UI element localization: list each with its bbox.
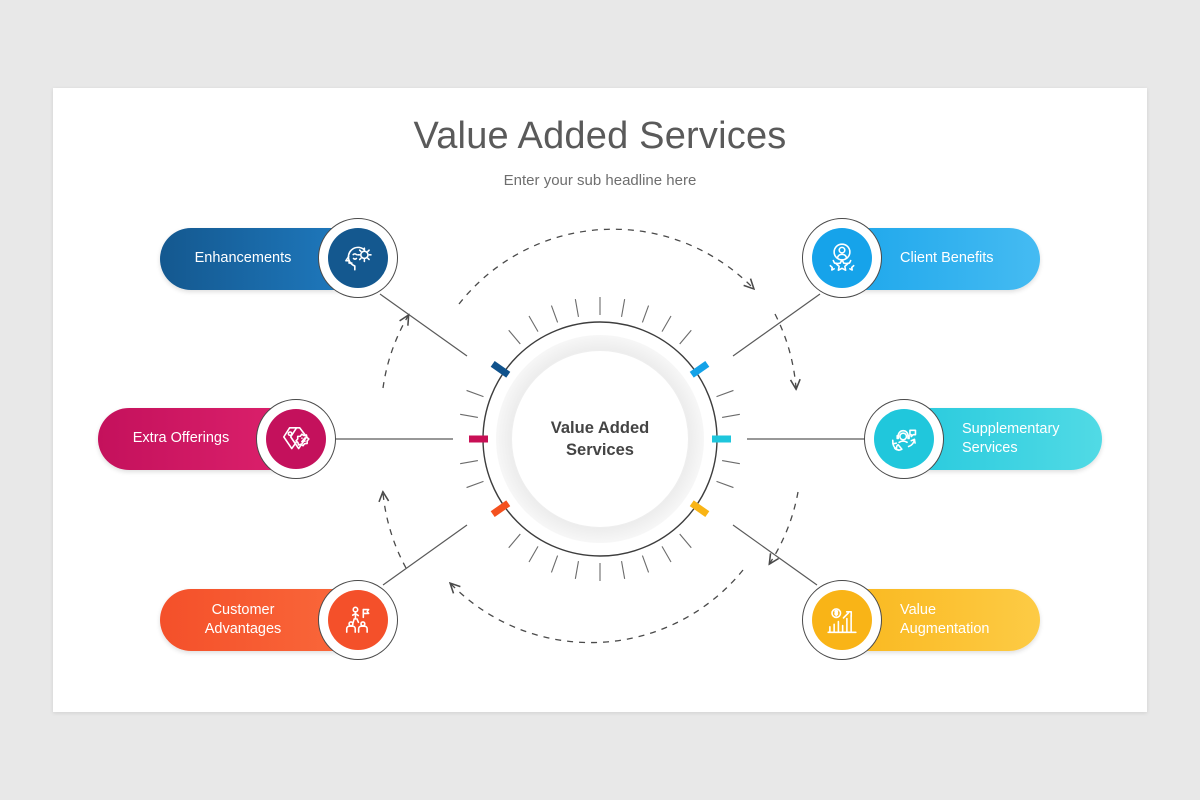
hub-tick <box>717 390 734 396</box>
hub-tick <box>722 414 740 417</box>
hub-tick <box>680 330 692 344</box>
connector-customer-advantages <box>383 525 467 585</box>
arc-lower-right <box>770 492 798 563</box>
hub-tick <box>662 316 671 332</box>
hub-tick <box>680 534 692 548</box>
node-icon-badge-enhancements[interactable] <box>318 218 398 298</box>
node-icon-badge-value-augmentation[interactable] <box>802 580 882 660</box>
connector-value-augmentation <box>733 525 817 585</box>
hub-tick <box>575 561 578 579</box>
connector-enhancements <box>380 294 467 356</box>
hub-tick <box>622 561 625 579</box>
arc-upper-left <box>383 316 408 388</box>
slide-card: Value Added Services Enter your sub head… <box>53 88 1147 712</box>
hub-tick <box>662 546 671 562</box>
growth-chart-dollar-icon <box>812 590 872 650</box>
hub-tick <box>551 306 557 323</box>
hub-tick <box>642 556 648 573</box>
hub-tick <box>575 299 578 317</box>
hub-tick <box>529 316 538 332</box>
hub-tick <box>509 534 521 548</box>
arc-bottom <box>451 570 743 643</box>
arc-top <box>459 229 753 304</box>
user-stars-icon <box>812 228 872 288</box>
arc-upper-right <box>775 314 796 388</box>
node-icon-badge-supplementary-services[interactable] <box>864 399 944 479</box>
hub-tick <box>509 330 521 344</box>
hub-tick <box>460 414 478 417</box>
hub-tick <box>551 556 557 573</box>
hub-tick <box>642 306 648 323</box>
node-icon-badge-extra-offerings[interactable] <box>256 399 336 479</box>
team-support-flag-icon <box>328 590 388 650</box>
connector-client-benefits <box>733 294 820 356</box>
hub-tick <box>622 299 625 317</box>
node-icon-badge-customer-advantages[interactable] <box>318 580 398 660</box>
hub-tick <box>722 461 740 464</box>
hub-label: Value Added Services <box>500 417 700 462</box>
hub-tick <box>717 481 734 487</box>
hub-tick <box>529 546 538 562</box>
hub-tick-colored <box>692 503 708 514</box>
price-tag-discount-icon <box>266 409 326 469</box>
hub-tick <box>467 481 484 487</box>
head-gear-icon <box>328 228 388 288</box>
node-icon-badge-client-benefits[interactable] <box>802 218 882 298</box>
headset-support-icon <box>874 409 934 469</box>
hub-tick-colored <box>493 503 509 514</box>
hub-tick <box>467 390 484 396</box>
hub-tick <box>460 461 478 464</box>
arc-lower-left <box>383 493 406 568</box>
hub-tick-colored <box>692 364 708 375</box>
hub-tick-colored <box>493 364 509 375</box>
